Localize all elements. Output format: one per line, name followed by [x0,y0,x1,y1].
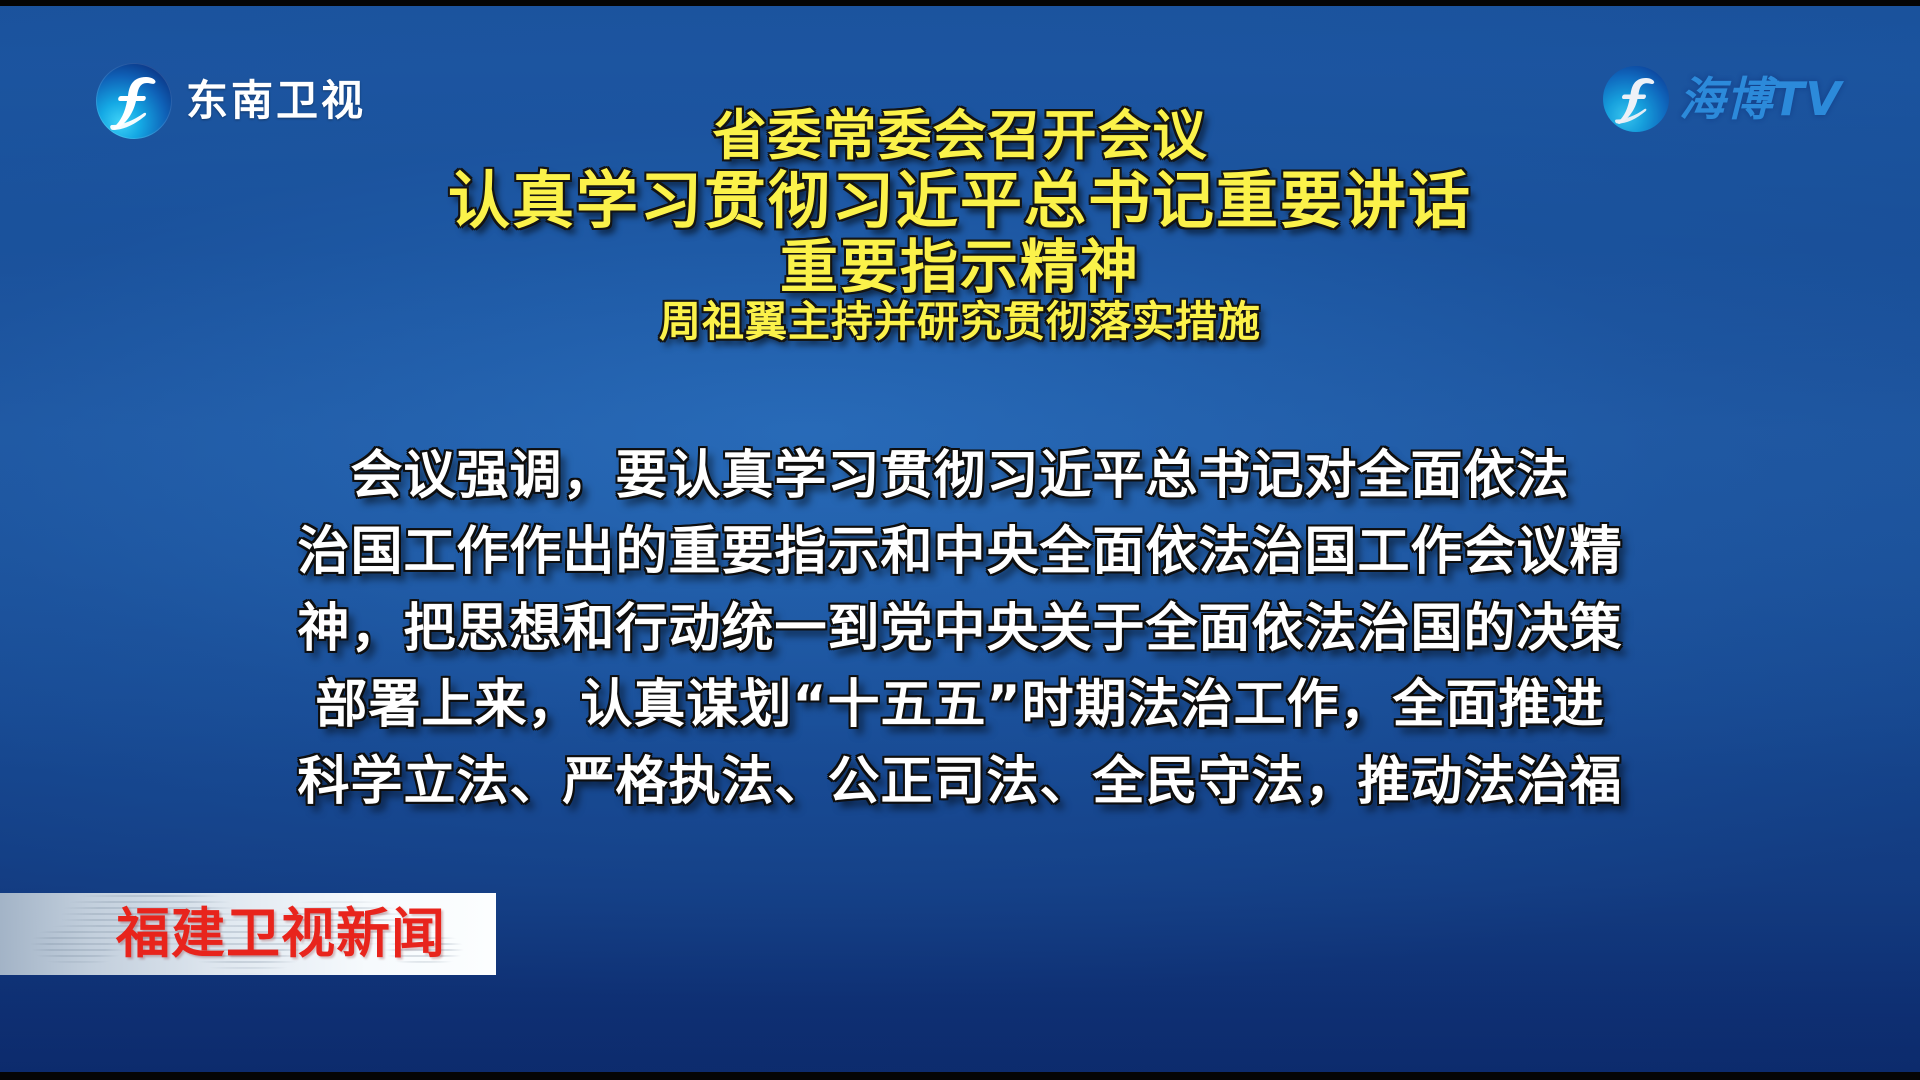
body-line-3: 神，把思想和行动统一到党中央关于全面依法治国的决策 [0,591,1920,667]
broadcast-screen: 东南卫视 海博TV 省委常委会召开会议 认真学习贯彻习近平总书记重要讲话 重要指… [0,0,1920,1080]
headline-line-3: 重要指示精神 [0,238,1920,297]
body-line-2: 治国工作作出的重要指示和中央全面依法治国工作会议精 [0,514,1920,590]
body-text-block: 会议强调，要认真学习贯彻习近平总书记对全面依法 治国工作作出的重要指示和中央全面… [0,438,1920,820]
headline-line-1: 省委常委会召开会议 [0,108,1920,163]
headline-subtitle: 周祖翼主持并研究贯彻落实措施 [0,301,1920,344]
program-banner: 福建卫视新闻 [0,893,496,975]
body-line-5: 科学立法、严格执法、公正司法、全民守法，推动法治福 [0,744,1920,820]
body-line-1: 会议强调，要认真学习贯彻习近平总书记对全面依法 [0,438,1920,514]
headline-block: 省委常委会召开会议 认真学习贯彻习近平总书记重要讲话 重要指示精神 周祖翼主持并… [0,108,1920,344]
letterbox-bar-top [0,0,1920,6]
body-line-4: 部署上来，认真谋划“十五五”时期法治工作，全面推进 [0,667,1920,743]
program-title: 福建卫视新闻 [116,907,446,961]
headline-line-2: 认真学习贯彻习近平总书记重要讲话 [0,169,1920,232]
letterbox-bar-bottom [0,1072,1920,1080]
